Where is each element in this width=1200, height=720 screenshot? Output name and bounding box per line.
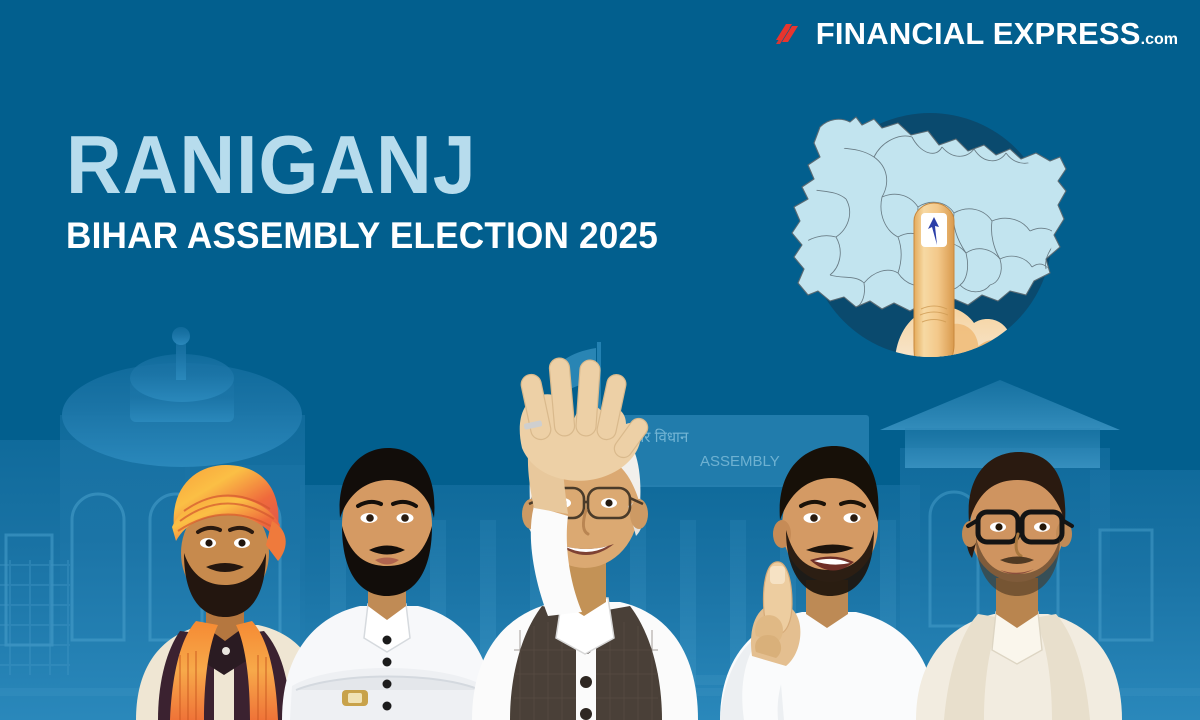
financial-express-logo-icon[interactable] (772, 19, 802, 49)
flag-icon (554, 342, 601, 482)
svg-text:ASSEMBLY: ASSEMBLY (700, 453, 780, 470)
politician-prashant-kishor (880, 410, 1150, 720)
brand-name: FINANCIAL EXPRESS (816, 16, 1141, 51)
eyeglasses (968, 512, 1072, 542)
bihar-map-graphic (778, 95, 1078, 385)
constituency-title: RANIGANJ (66, 126, 646, 205)
politician-nitish-kumar (430, 330, 730, 720)
brand-tld: .com (1141, 31, 1178, 48)
politician-tejashwi-yadav (660, 400, 950, 720)
bihar-map-badge (778, 95, 1078, 385)
masthead[interactable]: FINANCIAL EXPRESS.com (772, 18, 1178, 49)
ring (524, 420, 543, 430)
politician-samrat-choudhary (118, 425, 333, 720)
election-banner: बिहार विधान ASSEMBLY FINANCIAL EXPRESS.c… (0, 0, 1200, 720)
svg-text:बिहार विधान: बिहार विधान (620, 428, 689, 446)
masthead-wordmark[interactable]: FINANCIAL EXPRESS.com (816, 18, 1178, 49)
election-subtitle: BIHAR ASSEMBLY ELECTION 2025 (66, 217, 658, 256)
headline-block: RANIGANJ BIHAR ASSEMBLY ELECTION 2025 (66, 126, 689, 256)
wristwatch (342, 690, 368, 706)
assembly-signboard: बिहार विधान ASSEMBLY (607, 415, 869, 487)
politician-chirag-paswan (272, 390, 502, 720)
spectacles (529, 488, 643, 518)
